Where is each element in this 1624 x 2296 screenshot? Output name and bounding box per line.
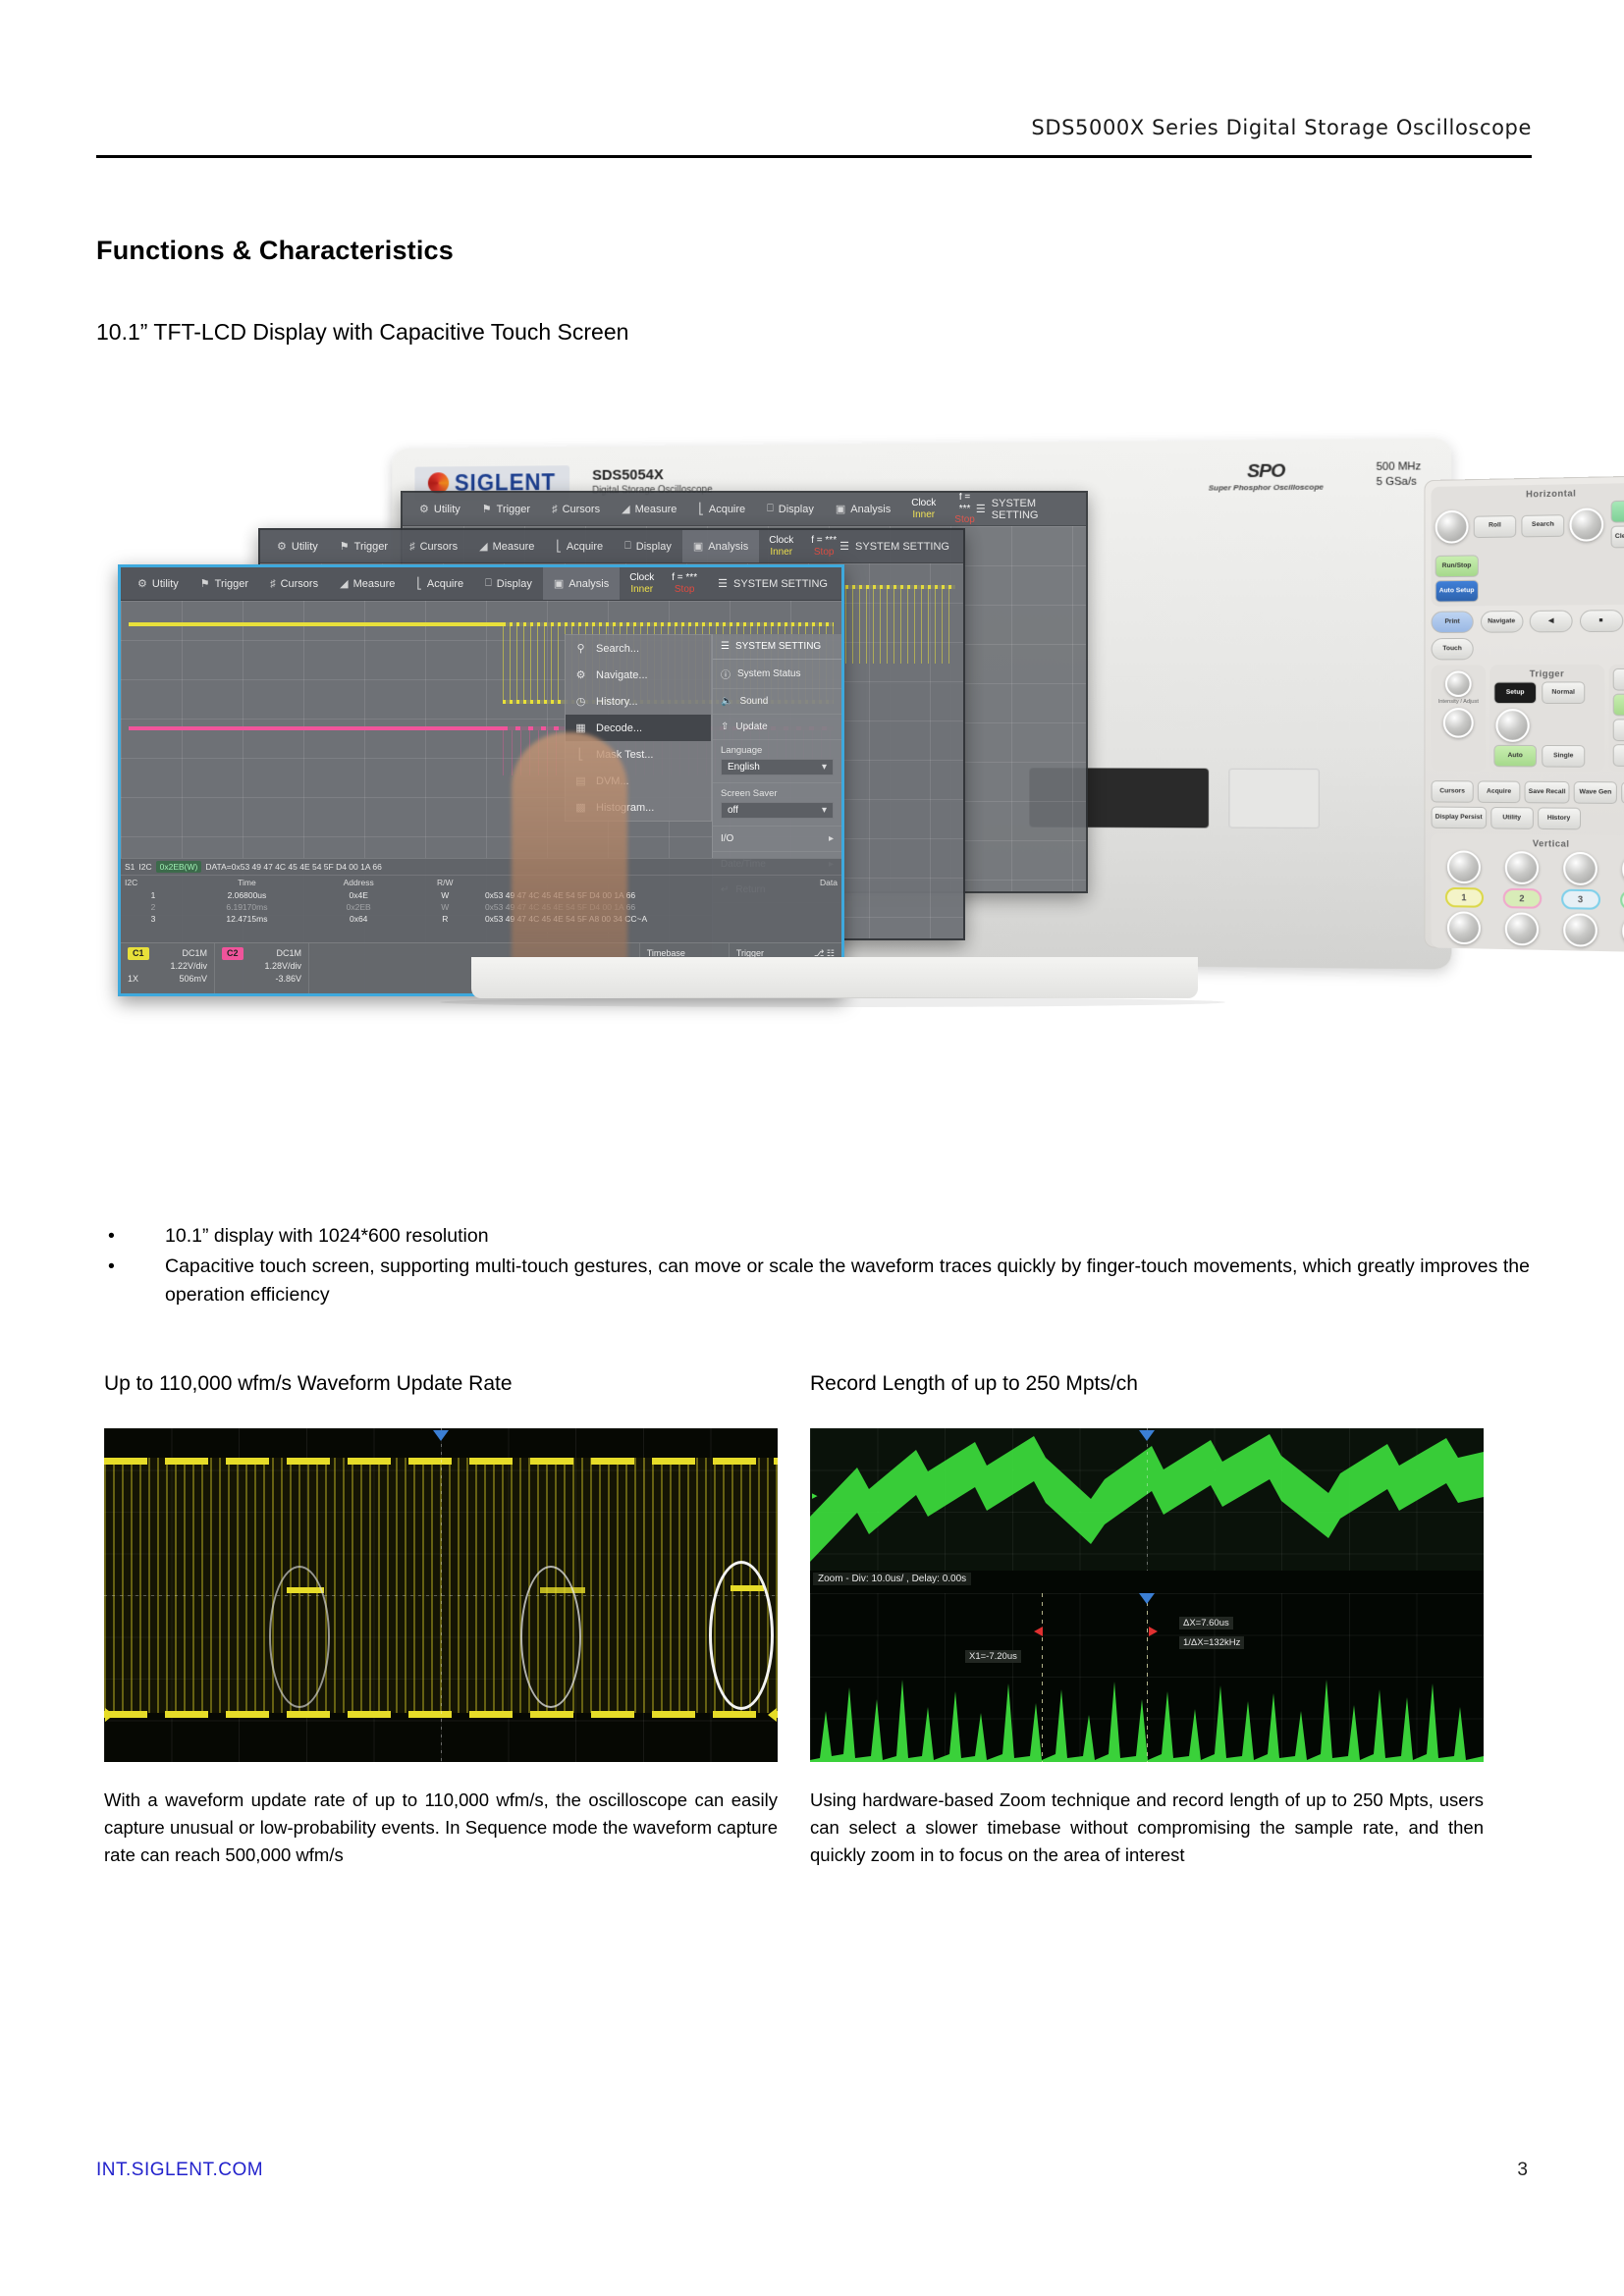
menubar-item-acquire-mid[interactable]: ⎣ Acquire (545, 530, 614, 562)
ch2-offset: -3.86V (275, 973, 301, 986)
freq-label: f = *** (672, 572, 697, 584)
vertical-section-label: Vertical (1435, 837, 1624, 850)
monitor-icon: ⎕ (485, 577, 492, 590)
system-panel-title-label: SYSTEM SETTING (735, 641, 821, 652)
system-setting-button[interactable]: ☰ SYSTEM SETTING (718, 577, 836, 590)
intensity-section: Intensity / Adjust (1432, 665, 1487, 771)
ch1-position-knob[interactable] (1447, 911, 1481, 944)
menubar-label: Analysis (850, 504, 891, 515)
zoom-trigger-marker (1139, 1593, 1155, 1604)
record-length-screenshot: ▸ Zoom - Div: 10.0us/ , Delay: 0.00s X1=… (810, 1428, 1484, 1762)
navigate-icon: ⚙ (574, 668, 587, 681)
screen-saver-select[interactable]: off ▾ (721, 802, 834, 819)
horizontal-section: Horizontal Roll Search Default Clear Swe… (1432, 482, 1624, 606)
bullet-text: Capacitive touch screen, supporting mult… (165, 1253, 1530, 1308)
print-button[interactable]: Print (1432, 611, 1474, 633)
ch1-ground-marker-left (105, 1708, 114, 1722)
system-setting-label: SYSTEM SETTING (855, 541, 949, 553)
ch2-tag: C2 (222, 947, 244, 960)
frequency-indicator-back: f = *** Stop (953, 492, 976, 526)
waveform-icon: ⎣ (416, 577, 422, 590)
inverse-delta-x-label: 1/ΔX=132kHz (1179, 1636, 1244, 1649)
menubar-label: Analysis (568, 578, 609, 590)
product-hero-image: SIGLENT SDS5054X Digital Storage Oscillo… (96, 422, 1530, 1168)
oscilloscope-stand (471, 957, 1198, 998)
analysis-icon: ▣ (554, 577, 564, 590)
system-panel-item-label: Update (735, 721, 767, 732)
system-setting-button-mid[interactable]: ☰ SYSTEM SETTING (839, 540, 957, 553)
menubar-label: Trigger (354, 541, 388, 553)
menu-item-navigate[interactable]: ⚙ Navigate... (566, 662, 711, 688)
intensity-label: Intensity / Adjust (1435, 699, 1482, 705)
scope-menubar-back: ⚙ Utility ⚑ Trigger ♯ Cursors ◢ Measure … (403, 493, 1086, 526)
menubar-item-display[interactable]: ⎕ Display (474, 567, 543, 600)
roll-button[interactable]: Roll (1474, 514, 1516, 537)
save-recall-button[interactable]: Save Recall (1525, 781, 1570, 804)
menubar-label: Cursors (420, 541, 459, 553)
horizontal-section-label: Horizontal (1435, 486, 1624, 501)
ch1-ground-marker-right (768, 1708, 777, 1722)
table-row[interactable]: 1 2.06800us 0x4E W 0x53 49 47 4C 45 4E 5… (121, 889, 841, 901)
system-setting-button-back[interactable]: ☰ SYSTEM SETTING (976, 498, 1080, 521)
cell-address: 0x4E (308, 889, 409, 901)
center-horizontal-marker-left (104, 1595, 778, 1596)
io-submenu[interactable]: I/O ▸ (713, 827, 841, 852)
screen-saver-value: off (728, 805, 738, 816)
horizontal-scale-knob[interactable] (1435, 510, 1469, 544)
ch1-scale-knob[interactable] (1447, 850, 1481, 883)
cell-rw: R (409, 913, 481, 925)
table-row[interactable]: 2 6.19170ms 0x2EB W 0x53 49 47 4C 45 4E … (121, 901, 841, 913)
system-icon: ☰ (718, 577, 728, 590)
decode-packet-address: 0x2EB(W) (156, 861, 202, 873)
ruler-icon: ◢ (622, 503, 629, 515)
cell-time: 2.06800us (186, 889, 308, 901)
ruler-icon: ◢ (479, 540, 487, 553)
cursors-button[interactable]: Cursors (1432, 780, 1474, 803)
cell-rw: W (409, 901, 481, 913)
menu-item-search[interactable]: ⚲ Search... (566, 635, 711, 662)
cursor-x2[interactable] (1147, 1593, 1148, 1762)
language-label: Language (721, 745, 834, 756)
decode-table-header: I2C Time Address R/W Data (121, 876, 841, 889)
menubar-item-analysis-back[interactable]: ▣ Analysis (825, 493, 901, 525)
crosshair-icon: ♯ (270, 578, 276, 590)
system-icon: ☰ (839, 540, 849, 553)
section-subtitle: 10.1” TFT-LCD Display with Capacitive To… (96, 319, 628, 346)
history-button[interactable]: History (1538, 807, 1581, 829)
channel-ground-marker: ▸ (812, 1489, 818, 1502)
ruler-icon: ◢ (340, 577, 348, 590)
menu-item-label: Search... (596, 643, 639, 655)
screen-saver-label: Screen Saver (721, 788, 834, 799)
run-state: Stop (672, 584, 697, 596)
flag-icon: ⚑ (340, 540, 350, 553)
chevron-down-icon: ▾ (822, 805, 827, 816)
clock-indicator-mid: Clock Inner (769, 535, 793, 558)
utility-buttons-row: Cursors Acquire Save Recall Wave Gen Mea… (1432, 780, 1624, 830)
header-title: SDS5000X Series Digital Storage Oscillos… (1031, 116, 1532, 139)
footer-website-link[interactable]: INT.SIGLENT.COM (96, 2160, 263, 2181)
menubar-item-trigger[interactable]: ⚑ Trigger (189, 567, 259, 600)
system-panel-item-update[interactable]: ⇧ Update (713, 715, 841, 740)
menubar-label: Utility (292, 541, 318, 553)
trigger-auto-button[interactable]: Auto (1493, 745, 1537, 768)
trigger-position-marker-right (1139, 1430, 1155, 1441)
cursor-x1-arrow (1034, 1627, 1043, 1636)
menubar-item-acquire[interactable]: ⎣ Acquire (406, 567, 474, 600)
run-state: Stop (811, 547, 837, 559)
decode-bus-bar: S1 I2C 0x2EB(W) DATA=0x53 49 47 4C 45 4E… (121, 859, 841, 876)
menubar-item-analysis-mid[interactable]: ▣ Analysis (682, 530, 759, 562)
menubar-label: Display (497, 578, 532, 590)
info-icon: ⓘ (721, 667, 731, 681)
freq-label: f = *** (811, 535, 837, 547)
search-button[interactable]: Search (1521, 514, 1564, 537)
cell-time: 12.4715ms (186, 913, 308, 925)
wave-gen-button[interactable]: Wave Gen (1574, 781, 1617, 804)
menubar-item-utility[interactable]: ⚙ Utility (127, 567, 189, 600)
section-heading-record-length: Record Length of up to 250 Mpts/ch (810, 1372, 1138, 1396)
col-time: Time (186, 876, 308, 889)
col-address: Address (308, 876, 409, 889)
gear-icon: ⚙ (419, 503, 429, 515)
decode-table-panel: S1 I2C 0x2EB(W) DATA=0x53 49 47 4C 45 4E… (121, 858, 841, 942)
spo-badge: SPO Super Phosphor Oscilloscope (1209, 460, 1324, 492)
spec-block: 500 MHz 5 GSa/s (1377, 459, 1422, 490)
trigger-normal-button[interactable]: Normal (1542, 681, 1585, 704)
run-stop-button[interactable]: Run/Stop (1435, 555, 1479, 577)
highlight-ellipse-3 (709, 1561, 774, 1710)
ref-button[interactable]: Ref (1613, 744, 1624, 767)
feature-bullet-list: • 10.1” display with 1024*600 resolution… (96, 1222, 1530, 1311)
clock-label: Clock (911, 498, 936, 509)
list-item: • Capacitive touch screen, supporting mu… (96, 1253, 1530, 1308)
ch1-scale: 1.22V/div (170, 960, 207, 973)
menubar-label: Analysis (708, 541, 748, 553)
navigation-row: Print Navigate ◀ ■ ▶ Touch (1432, 610, 1624, 661)
io-label: I/O (721, 833, 733, 844)
freq-label: f = *** (953, 492, 976, 514)
system-setting-label: SYSTEM SETTING (992, 498, 1072, 521)
menu-item-history[interactable]: ◷ History... (566, 688, 711, 715)
menubar-label: Utility (152, 578, 179, 590)
waveform-icon: ⎣ (556, 540, 562, 553)
menubar-item-cursors-mid[interactable]: ♯ Cursors (399, 530, 468, 562)
menubar-item-measure-mid[interactable]: ◢ Measure (468, 530, 545, 562)
col-index: I2C (121, 876, 186, 889)
menu-item-label: Decode... (596, 722, 642, 734)
decode-table: I2C Time Address R/W Data 1 2.06800us 0x… (121, 876, 841, 925)
menubar-label: Display (779, 504, 814, 515)
clock-value: Inner (629, 584, 654, 596)
system-panel-item-sound[interactable]: 🔈 Sound (713, 689, 841, 715)
ch1-offset: 506mV (179, 973, 207, 986)
intensity-knob[interactable] (1445, 670, 1472, 696)
default-button[interactable]: Default (1611, 500, 1624, 523)
chevron-down-icon: ▾ (822, 762, 827, 773)
menubar-label: Display (636, 541, 672, 553)
navigate-button[interactable]: Navigate (1480, 611, 1523, 633)
cell-address: 0x2EB (308, 901, 409, 913)
screen-saver-field[interactable]: Screen Saver off ▾ (713, 783, 841, 827)
menubar-label: Trigger (497, 504, 530, 515)
channel-2-button[interactable]: 2 (1502, 888, 1542, 909)
probe-compensation-area (1228, 769, 1319, 828)
flag-icon: ⚑ (482, 503, 492, 515)
zoom-info-label: Zoom - Div: 10.0us/ , Delay: 0.00s (813, 1573, 971, 1585)
spo-logo-text: SPO (1209, 460, 1324, 483)
clear-sweeps-button[interactable]: Clear Sweeps (1611, 525, 1624, 548)
monitor-icon: ⎕ (624, 540, 631, 553)
update-icon: ⇧ (721, 721, 729, 732)
search-icon: ⚲ (574, 642, 587, 655)
touch-button[interactable]: Touch (1432, 638, 1474, 661)
menubar-item-trigger-mid[interactable]: ⚑ Trigger (329, 530, 399, 562)
analysis-icon: ▣ (836, 503, 845, 515)
system-panel-icon: ☰ (721, 641, 730, 652)
analysis-icon: ▣ (693, 540, 703, 553)
menubar-item-display-mid[interactable]: ⎕ Display (614, 530, 682, 562)
adjust-knob[interactable] (1443, 708, 1474, 738)
waveform-icon: ⎣ (698, 503, 704, 515)
menubar-item-utility-back[interactable]: ⚙ Utility (408, 493, 471, 525)
trigger-position-marker-left (433, 1430, 449, 1441)
trigger-section: Trigger Setup Normal Auto Single (1489, 665, 1604, 772)
front-panel: Horizontal Roll Search Default Clear Swe… (1424, 475, 1624, 953)
col-rw: R/W (409, 876, 481, 889)
trigger-setup-button[interactable]: Setup (1493, 681, 1537, 704)
cell-address: 0x64 (308, 913, 409, 925)
menu-item-label: Navigate... (596, 669, 648, 681)
cursor-x1[interactable] (1042, 1593, 1043, 1762)
gear-icon: ⚙ (137, 577, 147, 590)
menubar-label: Cursors (281, 578, 319, 590)
menubar-item-trigger-back[interactable]: ⚑ Trigger (471, 493, 541, 525)
decode-protocol: I2C (138, 862, 151, 872)
ch2-trace (129, 726, 504, 730)
ch2-scale: 1.28V/div (264, 960, 301, 973)
language-value: English (728, 762, 760, 773)
display-persist-button[interactable]: Display Persist (1432, 806, 1487, 828)
bullet-marker: • (96, 1253, 165, 1308)
history-icon: ◷ (574, 695, 587, 708)
ch1-tag: C1 (128, 947, 149, 960)
channel-3-button[interactable]: 3 (1561, 889, 1600, 910)
clock-value: Inner (769, 547, 793, 559)
ch1-status[interactable]: C1 DC1M 1.22V/div 1X 506mV (121, 943, 215, 993)
system-panel-title: ☰ SYSTEM SETTING (713, 634, 841, 660)
screenshot-layer-front: ⚙ Utility ⚑ Trigger ♯ Cursors ◢ Measure … (118, 564, 844, 996)
menubar-item-display-back[interactable]: ⎕ Display (756, 493, 825, 525)
trigger-single-button[interactable]: Single (1542, 745, 1585, 768)
bullet-text: 10.1” display with 1024*600 resolution (165, 1222, 1530, 1250)
clock-label: Clock (769, 535, 793, 547)
monitor-icon: ⎕ (767, 503, 774, 515)
cell-time: 6.19170ms (186, 901, 308, 913)
channel-1-button[interactable]: 1 (1444, 887, 1483, 908)
record-length-description: Using hardware-based Zoom technique and … (810, 1787, 1484, 1868)
ch2-status[interactable]: C2 DC1M 1.28V/div -3.86V (215, 943, 309, 993)
ch1-trace (129, 622, 504, 626)
scope-menubar: ⚙ Utility ⚑ Trigger ♯ Cursors ◢ Measure … (121, 567, 841, 601)
system-setting-label: SYSTEM SETTING (733, 578, 828, 590)
highlight-ellipse-2 (520, 1566, 581, 1708)
digital-section: Decode Digital Math Ref (1608, 665, 1624, 773)
menubar-item-analysis[interactable]: ▣ Analysis (543, 567, 620, 600)
stop-button[interactable]: ■ (1579, 610, 1622, 632)
cell-index: 3 (121, 913, 186, 925)
scope-menubar-middle: ⚙ Utility ⚑ Trigger ♯ Cursors ◢ Measure … (260, 530, 963, 563)
menubar-item-measure[interactable]: ◢ Measure (329, 567, 406, 600)
channel-4-button[interactable]: 4 (1620, 890, 1624, 911)
cell-index: 1 (121, 889, 186, 901)
menubar-item-acquire-back[interactable]: ⎣ Acquire (687, 493, 756, 525)
crosshair-icon: ♯ (552, 504, 558, 515)
cursor-x1-label: X1=-7.20us (965, 1650, 1021, 1663)
crosshair-icon: ♯ (409, 541, 415, 553)
ch1-probe: 1X (128, 973, 138, 986)
bandwidth-spec: 500 MHz (1377, 459, 1422, 475)
system-panel-item-label: System Status (737, 668, 800, 679)
flag-icon: ⚑ (200, 577, 210, 590)
trigger-section-label: Trigger (1493, 668, 1600, 679)
menubar-item-utility-mid[interactable]: ⚙ Utility (266, 530, 329, 562)
vertical-section: Vertical 1 2 3 4 (1432, 833, 1624, 953)
chevron-right-icon: ▸ (829, 833, 834, 844)
ch3-scale-knob[interactable] (1563, 852, 1597, 885)
cell-index: 2 (121, 901, 186, 913)
waveform-rate-description: With a waveform update rate of up to 110… (104, 1787, 778, 1868)
samplerate-spec: 5 GSa/s (1377, 475, 1422, 490)
language-field[interactable]: Language English ▾ (713, 740, 841, 783)
page-header: SDS5000X Series Digital Storage Oscillos… (96, 116, 1532, 139)
highlight-ellipse-1 (269, 1566, 330, 1708)
system-panel-item-status[interactable]: ⓘ System Status (713, 660, 841, 689)
model-number: SDS5054X (592, 466, 712, 486)
system-icon: ☰ (976, 503, 986, 515)
trigger-level-knob[interactable] (1495, 709, 1529, 742)
utility-button[interactable]: Utility (1490, 807, 1534, 829)
menubar-label: Measure (493, 541, 535, 553)
math-button[interactable]: Math (1613, 719, 1624, 741)
gear-icon: ⚙ (277, 540, 287, 553)
page-root: SDS5000X Series Digital Storage Oscillos… (0, 0, 1624, 2296)
ch2-position-knob[interactable] (1505, 912, 1539, 945)
system-panel-item-label: Sound (739, 696, 768, 707)
bullet-marker: • (96, 1222, 165, 1250)
delta-x-label: ΔX=7.60us (1179, 1617, 1233, 1629)
language-select[interactable]: English ▾ (721, 759, 834, 775)
clock-value: Inner (911, 509, 936, 521)
menubar-label: Trigger (215, 578, 248, 590)
header-divider (96, 155, 1532, 158)
decode-packet-data: DATA=0x53 49 47 4C 45 4E 54 5F D4 00 1A … (205, 862, 381, 872)
menubar-label: Acquire (709, 504, 745, 515)
stand-shadow (440, 997, 1225, 1007)
auto-setup-button[interactable]: Auto Setup (1435, 580, 1479, 603)
ch2-scale-knob[interactable] (1505, 851, 1539, 884)
ch3-position-knob[interactable] (1563, 913, 1597, 947)
ch1-coupling: DC1M (182, 947, 207, 960)
zoom-timebase-view: X1=-7.20us ΔX=7.60us 1/ΔX=132kHz (810, 1593, 1484, 1762)
menubar-label: Acquire (567, 541, 603, 553)
main-timebase-view: ▸ (810, 1428, 1484, 1571)
page-number: 3 (1517, 2160, 1528, 2181)
frequency-indicator-mid: f = *** Stop (811, 535, 837, 558)
waveform-update-rate-screenshot (104, 1428, 778, 1762)
waveform-area: ⚲ Search... ⚙ Navigate... ◷ History... ▦… (121, 601, 841, 993)
cursor-x2-arrow (1149, 1627, 1158, 1636)
digital-button[interactable]: Digital (1613, 694, 1624, 717)
menubar-label: Acquire (427, 578, 463, 590)
spo-subtitle: Super Phosphor Oscilloscope (1209, 482, 1324, 492)
menubar-item-measure-back[interactable]: ◢ Measure (611, 493, 687, 525)
menubar-item-cursors-back[interactable]: ♯ Cursors (541, 493, 611, 525)
menubar-label: Measure (635, 504, 677, 515)
acquire-button[interactable]: Acquire (1478, 780, 1521, 803)
ch2-coupling: DC1M (276, 947, 301, 960)
clock-indicator-back: Clock Inner (911, 498, 936, 520)
cell-rw: W (409, 889, 481, 901)
prev-button[interactable]: ◀ (1530, 611, 1573, 633)
menu-item-label: History... (596, 696, 638, 708)
run-state: Stop (953, 514, 976, 526)
sound-icon: 🔈 (721, 696, 732, 707)
clock-indicator: Clock Inner (629, 572, 654, 595)
table-row[interactable]: 3 12.4715ms 0x64 R 0x53 49 47 4C 45 4E 5… (121, 913, 841, 925)
section-heading-waveform-rate: Up to 110,000 wfm/s Waveform Update Rate (104, 1372, 513, 1396)
zoom-region-marker (1147, 1428, 1148, 1571)
menubar-label: Utility (434, 504, 460, 515)
decode-bus-label: S1 (125, 862, 135, 872)
decode-button[interactable]: Decode (1613, 668, 1624, 691)
page-title: Functions & Characteristics (96, 236, 454, 266)
list-item: • 10.1” display with 1024*600 resolution (96, 1222, 1530, 1250)
menubar-item-cursors[interactable]: ♯ Cursors (259, 567, 329, 600)
menubar-label: Measure (353, 578, 396, 590)
menubar-label: Cursors (563, 504, 601, 515)
clock-label: Clock (629, 572, 654, 584)
horizontal-position-knob[interactable] (1569, 507, 1603, 541)
frequency-indicator: f = *** Stop (672, 572, 697, 595)
